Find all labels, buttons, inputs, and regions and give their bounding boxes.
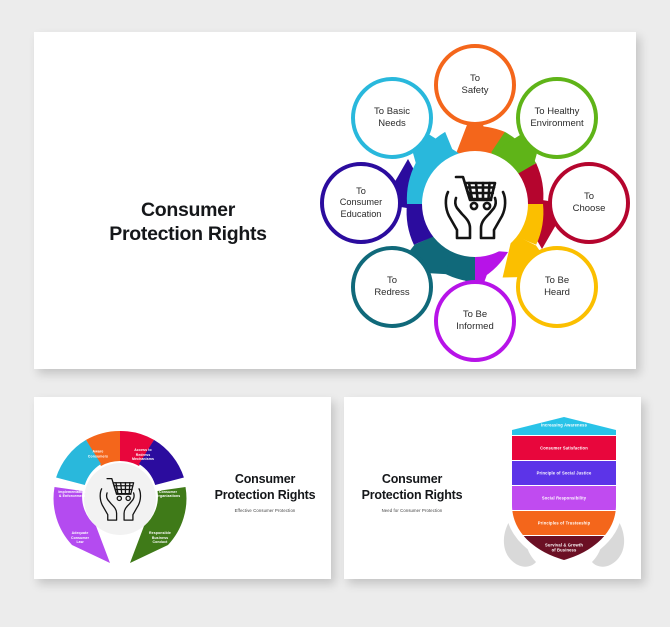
donut-svg — [40, 411, 200, 571]
node-to-be-informed[interactable]: To Be Informed — [434, 280, 516, 362]
right-slide-title-line2: Protection Rights — [357, 488, 467, 504]
shield-diagram: Increasing Awareness Consumer Satisfacti… — [494, 410, 634, 568]
left-slide-title-line2: Protection Rights — [210, 488, 320, 504]
left-slide-title: Consumer Protection Rights — [210, 472, 320, 503]
left-slide-title-line1: Consumer — [210, 472, 320, 488]
left-slide[interactable]: Consumer Protection Rights Effective Con… — [34, 397, 331, 579]
node-to-consumer-education-label: To Consumer Education — [336, 186, 386, 220]
left-slide-subtitle: Effective Consumer Protection — [210, 508, 320, 513]
node-to-be-informed-label: To Be Informed — [452, 309, 498, 332]
consumer-rights-wheel-diagram: To Safety To Healthy Environment To Choo… — [320, 44, 630, 358]
node-to-consumer-education[interactable]: To Consumer Education — [320, 162, 402, 244]
node-to-basic-needs-label: To Basic Needs — [370, 106, 414, 129]
node-to-redress-label: To Redress — [370, 275, 413, 298]
right-slide[interactable]: Consumer Protection Rights Need for Cons… — [344, 397, 641, 579]
page-title: Consumer Protection Rights — [72, 198, 304, 247]
node-to-safety[interactable]: To Safety — [434, 44, 516, 126]
node-to-be-heard-label: To Be Heard — [540, 275, 574, 298]
node-to-healthy-environment-label: To Healthy Environment — [526, 106, 587, 129]
semicircle-donut-diagram: Aware Consumers Access to Redress Mechan… — [40, 411, 200, 571]
node-to-basic-needs[interactable]: To Basic Needs — [351, 77, 433, 159]
node-to-choose-label: To Choose — [569, 191, 610, 214]
donut-center-disc — [84, 463, 156, 535]
page-title-line1: Consumer — [72, 198, 304, 222]
page-title-line2: Protection Rights — [72, 222, 304, 246]
right-slide-title-line1: Consumer — [357, 472, 467, 488]
node-to-choose[interactable]: To Choose — [548, 162, 630, 244]
node-to-safety-label: To Safety — [458, 73, 493, 96]
main-slide[interactable]: Consumer Protection Rights — [34, 32, 636, 369]
right-slide-title: Consumer Protection Rights — [357, 472, 467, 503]
node-to-be-heard[interactable]: To Be Heard — [516, 246, 598, 328]
shield-svg — [494, 410, 634, 568]
right-slide-subtitle: Need for Consumer Protection — [357, 508, 467, 513]
node-to-redress[interactable]: To Redress — [351, 246, 433, 328]
node-to-healthy-environment[interactable]: To Healthy Environment — [516, 77, 598, 159]
